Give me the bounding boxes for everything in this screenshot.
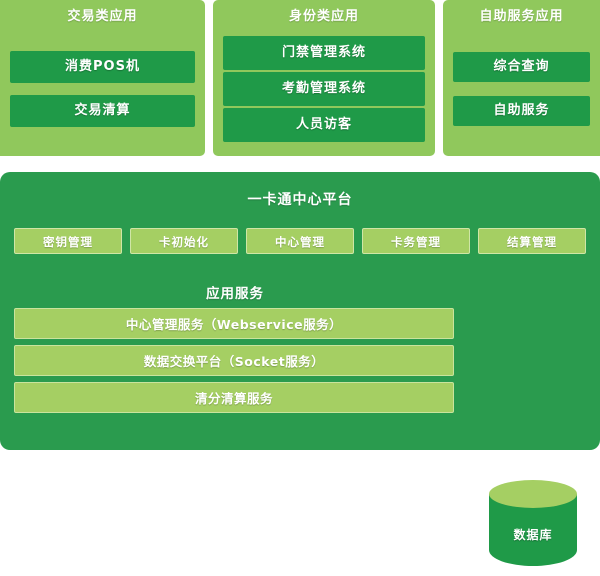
database-cylinder-top (489, 480, 577, 508)
service-box-clearing-settlement[interactable]: 清分清算服务 (14, 382, 454, 413)
platform-panel: 一卡通中心平台 密钥管理 卡初始化 中心管理 卡务管理 结算管理 应用服务 中心… (0, 172, 600, 450)
module-box-card-service-management[interactable]: 卡务管理 (362, 228, 470, 254)
application-box-comprehensive-query[interactable]: 综合查询 (453, 52, 590, 82)
application-panel-title: 交易类应用 (10, 7, 195, 29)
application-box-transaction-settlement[interactable]: 交易清算 (10, 95, 195, 127)
service-box-center-management-webservice[interactable]: 中心管理服务（Webservice服务） (14, 308, 454, 339)
application-box-attendance[interactable]: 考勤管理系统 (223, 72, 425, 106)
application-panels-row: 交易类应用 消费POS机 交易清算 身份类应用 门禁管理系统 考勤管理系统 人员… (0, 0, 600, 156)
application-panel-identity: 身份类应用 门禁管理系统 考勤管理系统 人员访客 (213, 0, 435, 156)
application-panel-self-service: 自助服务应用 综合查询 自助服务 (443, 0, 600, 156)
module-box-settlement-management[interactable]: 结算管理 (478, 228, 586, 254)
application-box-self-service[interactable]: 自助服务 (453, 96, 590, 126)
platform-title: 一卡通中心平台 (0, 189, 600, 209)
module-box-card-initialization[interactable]: 卡初始化 (130, 228, 238, 254)
module-box-key-management[interactable]: 密钥管理 (14, 228, 122, 254)
application-panel-title: 自助服务应用 (453, 7, 590, 29)
application-service-stack: 中心管理服务（Webservice服务） 数据交换平台（Socket服务） 清分… (14, 308, 454, 413)
database-label: 数据库 (489, 526, 577, 543)
platform-module-row: 密钥管理 卡初始化 中心管理 卡务管理 结算管理 (14, 228, 586, 254)
application-box-access-control[interactable]: 门禁管理系统 (223, 36, 425, 70)
application-service-title: 应用服务 (0, 282, 470, 302)
application-panel-body: 门禁管理系统 考勤管理系统 人员访客 (223, 29, 425, 148)
application-panel-transaction: 交易类应用 消费POS机 交易清算 (0, 0, 205, 156)
service-box-data-exchange-socket[interactable]: 数据交换平台（Socket服务） (14, 345, 454, 376)
application-panel-body: 消费POS机 交易清算 (10, 29, 195, 148)
diagram-canvas: 交易类应用 消费POS机 交易清算 身份类应用 门禁管理系统 考勤管理系统 人员… (0, 0, 600, 450)
database-cylinder-icon[interactable]: 数据库 (489, 480, 577, 576)
application-panel-body: 综合查询 自助服务 (453, 29, 590, 148)
application-panel-title: 身份类应用 (223, 7, 425, 29)
application-box-visitor[interactable]: 人员访客 (223, 108, 425, 142)
module-box-center-management[interactable]: 中心管理 (246, 228, 354, 254)
application-box-pos-machine[interactable]: 消费POS机 (10, 51, 195, 83)
